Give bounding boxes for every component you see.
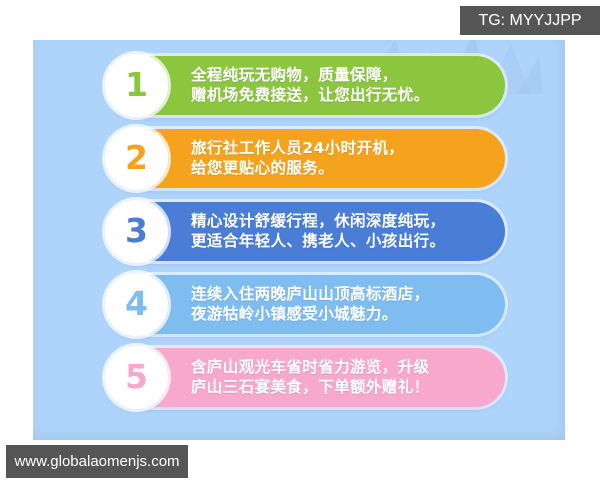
list-item: 连续入住两晚庐山山顶高标酒店， 夜游牯岭小镇感受小城魅力。 4 xyxy=(105,273,505,336)
list-item: 精心设计舒缓行程，休闲深度纯玩， 更适合年轻人、携老人、小孩出行。 3 xyxy=(105,200,505,263)
watermark-top-right: TG: MYYJJPP xyxy=(460,6,600,35)
benefit-number-badge: 4 xyxy=(105,273,168,336)
benefit-number-badge: 5 xyxy=(105,346,168,409)
benefit-list: 全程纯玩无购物，质量保障， 赠机场免费接送，让您出行无忧。 1 旅行社工作人员2… xyxy=(105,54,505,419)
benefit-text: 连续入住两晚庐山山顶高标酒店， 夜游牯岭小镇感受小城魅力。 xyxy=(191,285,430,325)
list-item: 全程纯玩无购物，质量保障， 赠机场免费接送，让您出行无忧。 1 xyxy=(105,54,505,117)
list-item: 旅行社工作人员24小时开机， 给您更贴心的服务。 2 xyxy=(105,127,505,190)
benefit-number-badge: 2 xyxy=(105,127,168,190)
benefit-pill: 精心设计舒缓行程，休闲深度纯玩， 更适合年轻人、携老人、小孩出行。 xyxy=(123,202,505,261)
watermark-bottom-left: www.globalaomenjs.com xyxy=(6,445,188,478)
benefit-number-badge: 3 xyxy=(105,200,168,263)
benefit-pill: 连续入住两晚庐山山顶高标酒店， 夜游牯岭小镇感受小城魅力。 xyxy=(123,275,505,334)
benefit-number-badge: 1 xyxy=(105,54,168,117)
benefit-pill: 旅行社工作人员24小时开机， 给您更贴心的服务。 xyxy=(123,129,505,188)
benefit-text: 含庐山观光车省时省力游览，升级 庐山三石宴美食，下单额外赠礼！ xyxy=(191,358,430,398)
benefit-pill: 含庐山观光车省时省力游览，升级 庐山三石宴美食，下单额外赠礼！ xyxy=(123,348,505,407)
promo-card: 全程纯玩无购物，质量保障， 赠机场免费接送，让您出行无忧。 1 旅行社工作人员2… xyxy=(33,40,565,440)
benefit-text: 全程纯玩无购物，质量保障， 赠机场免费接送，让您出行无忧。 xyxy=(191,66,430,106)
list-item: 含庐山观光车省时省力游览，升级 庐山三石宴美食，下单额外赠礼！ 5 xyxy=(105,346,505,409)
benefit-pill: 全程纯玩无购物，质量保障， 赠机场免费接送，让您出行无忧。 xyxy=(123,56,505,115)
benefit-text: 精心设计舒缓行程，休闲深度纯玩， 更适合年轻人、携老人、小孩出行。 xyxy=(191,212,445,252)
benefit-text: 旅行社工作人员24小时开机， 给您更贴心的服务。 xyxy=(191,139,404,179)
